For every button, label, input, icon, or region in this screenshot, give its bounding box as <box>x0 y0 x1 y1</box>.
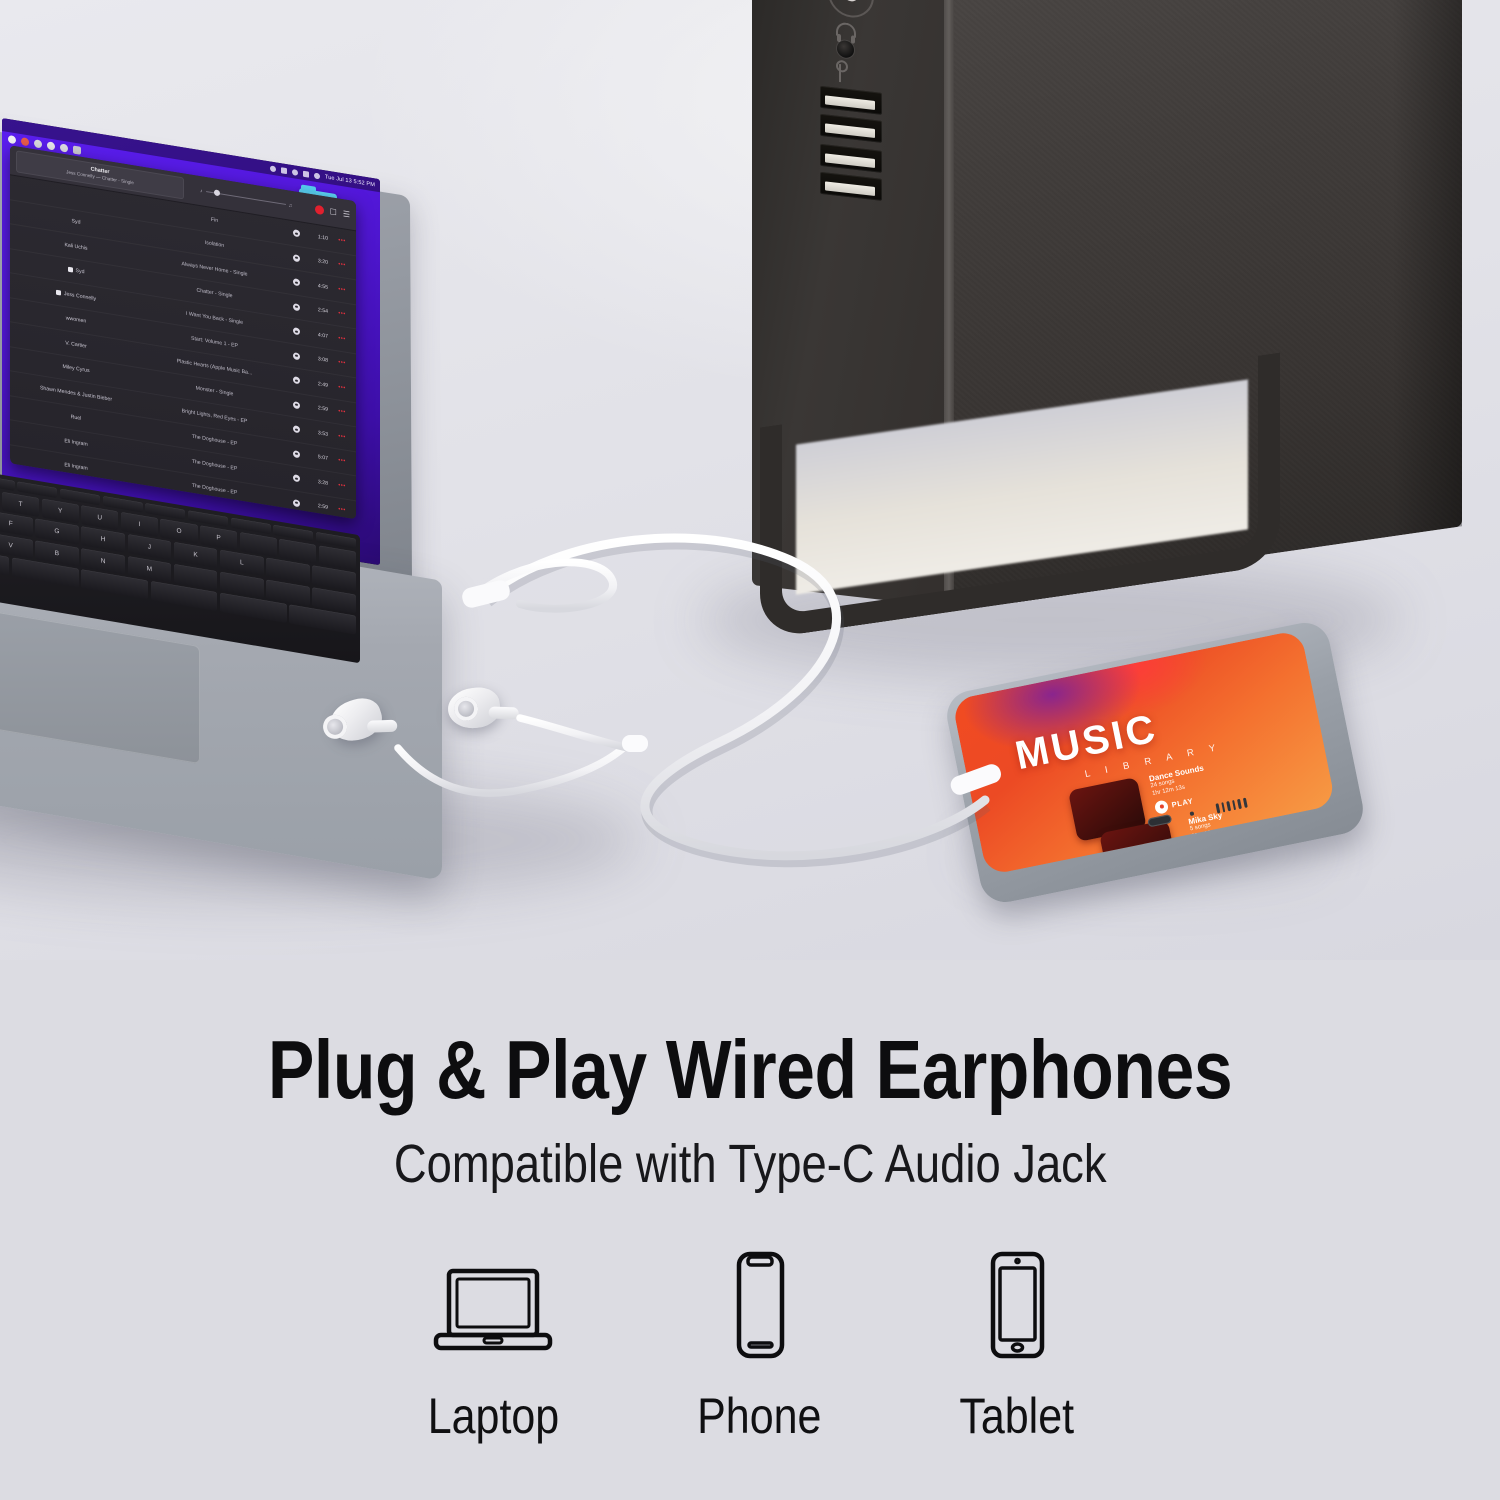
volume-track[interactable] <box>206 191 286 205</box>
key-i[interactable]: I <box>121 512 158 537</box>
key-t[interactable]: T <box>2 491 39 516</box>
download-status-icon[interactable] <box>293 376 300 384</box>
track-duration: 3:28 <box>306 477 328 487</box>
download-status-icon[interactable] <box>293 450 300 458</box>
device-laptop: Laptop <box>417 1249 570 1445</box>
cloud-icon[interactable] <box>21 137 29 146</box>
dropbox-icon[interactable] <box>8 135 16 144</box>
download-status-icon[interactable] <box>293 474 300 482</box>
power-button-icon[interactable]: ⏻ <box>828 0 874 20</box>
track-more-menu-icon[interactable]: ••• <box>334 506 350 515</box>
track-duration: 2:59 <box>306 403 328 413</box>
keyboard-icon[interactable] <box>73 145 81 154</box>
arrow-up-icon[interactable] <box>47 141 55 150</box>
track-more-menu-icon[interactable]: ••• <box>334 457 350 466</box>
product-photo-scene: ⏻ Tue Jul 13 5:52 PM <box>0 0 1500 960</box>
track-duration: 3:20 <box>306 256 328 266</box>
headphone-jack-icon <box>836 22 856 38</box>
track-duration: 4:07 <box>306 330 328 340</box>
download-status-icon[interactable] <box>293 254 300 262</box>
track-more-menu-icon[interactable]: ••• <box>334 433 350 442</box>
device-phone: Phone <box>687 1249 832 1445</box>
volume-high-icon: ♫ <box>289 202 293 209</box>
download-status-icon[interactable] <box>293 229 300 237</box>
track-duration: 4:55 <box>306 281 328 291</box>
search-icon[interactable] <box>292 168 298 175</box>
wifi-icon[interactable] <box>281 167 287 174</box>
control-center-icon[interactable] <box>270 165 276 172</box>
download-status-icon[interactable] <box>293 352 300 360</box>
microphone-icon <box>1190 811 1194 815</box>
toolbar-right-controls[interactable]: ☐ ☰ <box>315 205 350 220</box>
track-more-menu-icon[interactable]: ••• <box>334 286 350 295</box>
compatible-devices-row: Laptop Phone Tablet <box>417 1249 1084 1445</box>
track-duration: 2:59 <box>306 501 328 511</box>
user-icon[interactable] <box>314 172 320 179</box>
earbud-right <box>446 685 502 730</box>
download-status-icon[interactable] <box>293 499 300 507</box>
usb-port-2[interactable] <box>820 114 882 143</box>
marketing-copy-block: Plug & Play Wired Earphones Compatible w… <box>0 960 1500 1500</box>
list-view-icon[interactable]: ☰ <box>343 210 350 219</box>
battery-icon[interactable] <box>303 170 309 177</box>
tower-port-panel: ⏻ <box>808 0 906 222</box>
track-duration: 3:53 <box>306 428 328 438</box>
track-more-menu-icon[interactable]: ••• <box>334 408 350 417</box>
volume-low-icon: ♪ <box>200 188 203 194</box>
toolbox-icon[interactable] <box>34 139 42 148</box>
explicit-badge-icon <box>56 290 61 296</box>
track-more-menu-icon[interactable]: ••• <box>334 359 350 368</box>
track-more-menu-icon[interactable]: ••• <box>334 310 350 319</box>
desktop-tower: ⏻ <box>752 0 1452 660</box>
download-status-icon[interactable] <box>293 303 300 311</box>
phone-icon <box>721 1249 799 1361</box>
device-label: Phone <box>698 1387 822 1445</box>
usb-port-1[interactable] <box>820 86 882 115</box>
explicit-badge-icon <box>68 267 73 273</box>
key-blank[interactable] <box>319 545 356 570</box>
disc-icon <box>1154 799 1169 814</box>
track-more-menu-icon[interactable]: ••• <box>334 482 350 491</box>
track-duration: 5:07 <box>306 452 328 462</box>
music-track-list[interactable]: Fin1:10•••SydIsolation3:20•••Kali UchisA… <box>10 175 356 519</box>
track-more-menu-icon[interactable]: ••• <box>334 384 350 393</box>
clock-icon[interactable] <box>60 143 68 152</box>
download-status-icon[interactable] <box>293 401 300 409</box>
usb-port-4[interactable] <box>820 172 882 201</box>
usb-symbol-icon <box>839 64 852 83</box>
download-status-icon[interactable] <box>293 278 300 286</box>
track-duration: 2:54 <box>306 305 328 315</box>
key-u[interactable]: U <box>81 505 118 530</box>
laptop-icon <box>428 1249 558 1361</box>
key-blank[interactable] <box>279 538 316 563</box>
cable-splitter <box>622 735 648 752</box>
device-label: Tablet <box>959 1387 1074 1445</box>
record-button[interactable] <box>315 205 324 215</box>
play-button-label[interactable]: PLAY <box>1171 796 1194 809</box>
tablet-icon <box>974 1249 1060 1361</box>
key-blank[interactable] <box>240 532 277 557</box>
key-blank[interactable] <box>0 474 15 491</box>
page-subtitle: Compatible with Type-C Audio Jack <box>394 1137 1107 1191</box>
airplay-icon[interactable]: ☐ <box>330 208 337 217</box>
volume-knob[interactable] <box>214 189 220 196</box>
track-duration: 2:49 <box>306 379 328 389</box>
device-tablet: Tablet <box>950 1249 1083 1445</box>
track-duration: 1:10 <box>306 232 328 242</box>
download-status-icon[interactable] <box>293 327 300 335</box>
page-title: Plug & Play Wired Earphones <box>268 1028 1232 1111</box>
track-duration: 3:08 <box>306 354 328 364</box>
earbud-right-stem <box>488 706 518 719</box>
device-label: Laptop <box>427 1387 559 1445</box>
key-y[interactable]: Y <box>42 498 79 523</box>
track-more-menu-icon[interactable]: ••• <box>334 261 350 270</box>
track-more-menu-icon[interactable]: ••• <box>334 335 350 344</box>
usb-port-3[interactable] <box>820 144 882 173</box>
playlist-item-1[interactable]: Dance Sounds 24 songs 1hr 12m 13s PLAY <box>1148 764 1211 815</box>
key-p[interactable]: P <box>200 525 237 550</box>
track-more-menu-icon[interactable]: ••• <box>334 237 350 246</box>
download-status-icon[interactable] <box>293 425 300 433</box>
key-o[interactable]: O <box>160 518 197 543</box>
music-app-window[interactable]: Chatter Jess Connelly — Chatter - Single… <box>10 145 356 519</box>
earbud-left-stem <box>367 720 397 733</box>
laptop: Tue Jul 13 5:52 PM DT Relocated Items <box>0 96 570 886</box>
